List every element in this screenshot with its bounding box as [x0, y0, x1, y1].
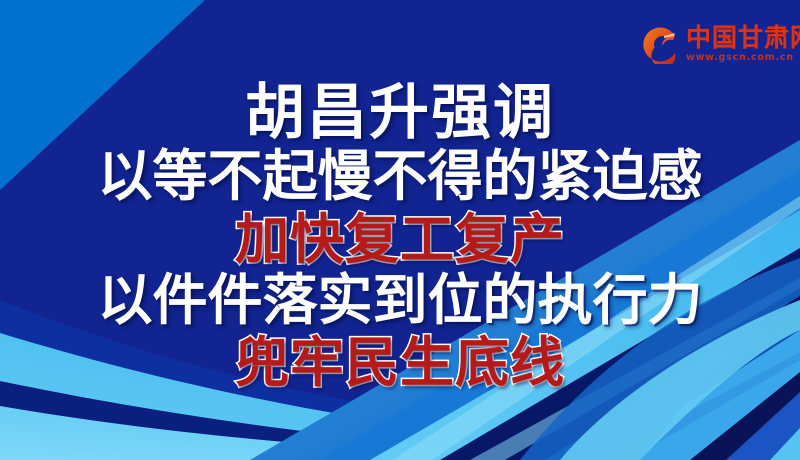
news-poster: 中国甘肃网 www.gscn.com.cn 胡昌升强调 以等不起慢不得的紧迫感 …: [0, 0, 800, 460]
wave-ribbon-4: [0, 406, 800, 460]
logo-brand-name: 中国甘肃网: [686, 25, 800, 50]
headline-line-4: 以件件落实到位的执行力: [97, 272, 702, 329]
headline-line-1: 胡昌升强调: [245, 82, 555, 144]
headline-block: 胡昌升强调 以等不起慢不得的紧迫感 加快复工复产 以件件落实到位的执行力 兜牢民…: [0, 82, 800, 391]
headline-line-2: 以等不起慢不得的紧迫感: [97, 148, 702, 205]
logo-website-url: www.gscn.com.cn: [686, 53, 794, 63]
headline-line-3: 加快复工复产: [235, 212, 565, 268]
gansu-net-swirl-logo-icon: [642, 24, 682, 64]
headline-line-5: 兜牢民生底线: [235, 335, 565, 391]
site-logo[interactable]: 中国甘肃网 www.gscn.com.cn: [642, 20, 792, 68]
